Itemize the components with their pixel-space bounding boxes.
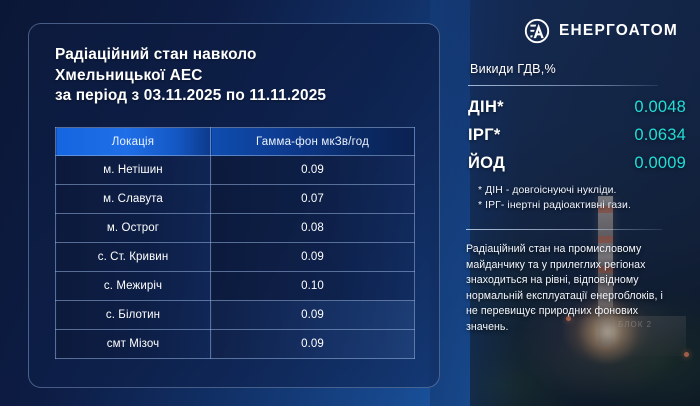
emission-label: ІРГ* [468, 126, 501, 145]
emission-row: ЙОД 0.0009 [462, 154, 690, 173]
footnote: * ДІН - довгоіснуючі нукліди. [478, 183, 690, 198]
cell-gamma: 0.10 [211, 272, 415, 301]
page-title: Радіаційний стан навколо Хмельницької АЕ… [55, 45, 326, 107]
table-row: м. Острог 0.08 [56, 214, 415, 243]
emission-value: 0.0634 [634, 126, 686, 145]
footnote: * ІРГ- інертні радіоактивні гази. [478, 198, 690, 213]
cell-gamma: 0.09 [211, 330, 415, 359]
cell-gamma: 0.08 [211, 214, 415, 243]
cell-location: м. Нетішин [56, 156, 211, 185]
table-row: с. Білотин 0.09 [56, 301, 415, 330]
cell-location: с. Межиріч [56, 272, 211, 301]
table-row: м. Нетішин 0.09 [56, 156, 415, 185]
gamma-background-table: Локація Гамма-фон мкЗв/год м. Нетішин 0.… [55, 127, 415, 359]
emissions-title: Викиди ГДВ,% [470, 62, 690, 76]
brand-logo: ЕНЕРГОАТОМ [524, 18, 678, 44]
divider [466, 229, 662, 230]
emission-value: 0.0048 [634, 98, 686, 117]
cell-gamma: 0.09 [211, 301, 415, 330]
column-header-gamma: Гамма-фон мкЗв/год [211, 128, 415, 156]
cell-location: м. Острог [56, 214, 211, 243]
table-row: смт Мізоч 0.09 [56, 330, 415, 359]
table-row: м. Славута 0.07 [56, 185, 415, 214]
cell-gamma: 0.09 [211, 156, 415, 185]
emission-label: ДІН* [468, 98, 504, 117]
cell-gamma: 0.09 [211, 243, 415, 272]
cell-location: смт Мізоч [56, 330, 211, 359]
radiation-card: Радіаційний стан навколо Хмельницької АЕ… [28, 23, 440, 388]
column-header-location: Локація [56, 128, 211, 156]
table-row: с. Межиріч 0.10 [56, 272, 415, 301]
brand-name: ЕНЕРГОАТОМ [559, 22, 678, 40]
emission-row: ДІН* 0.0048 [462, 98, 690, 117]
footnotes: * ДІН - довгоіснуючі нукліди. * ІРГ- іне… [462, 183, 690, 213]
cell-location: м. Славута [56, 185, 211, 214]
cell-location: с. Білотин [56, 301, 211, 330]
emission-label: ЙОД [468, 154, 505, 173]
infographic-canvas: БЛОК 2 ЕНЕРГОАТОМ Радіаційний стан навко… [0, 0, 700, 406]
table-header-row: Локація Гамма-фон мкЗв/год [56, 128, 415, 156]
table-row: с. Ст. Кривин 0.09 [56, 243, 415, 272]
table-body: м. Нетішин 0.09 м. Славута 0.07 м. Остро… [56, 156, 415, 359]
cell-gamma: 0.07 [211, 185, 415, 214]
emission-value: 0.0009 [634, 154, 686, 173]
emissions-panel: Викиди ГДВ,% ДІН* 0.0048 ІРГ* 0.0634 ЙОД… [462, 62, 690, 336]
summary-text: Радіаційний стан на промисловому майданч… [466, 242, 666, 336]
emission-row: ІРГ* 0.0634 [462, 126, 690, 145]
cell-location: с. Ст. Кривин [56, 243, 211, 272]
energoatom-circle-ea-icon [524, 18, 550, 44]
divider [468, 85, 658, 86]
emissions-list: ДІН* 0.0048 ІРГ* 0.0634 ЙОД 0.0009 [462, 98, 690, 173]
